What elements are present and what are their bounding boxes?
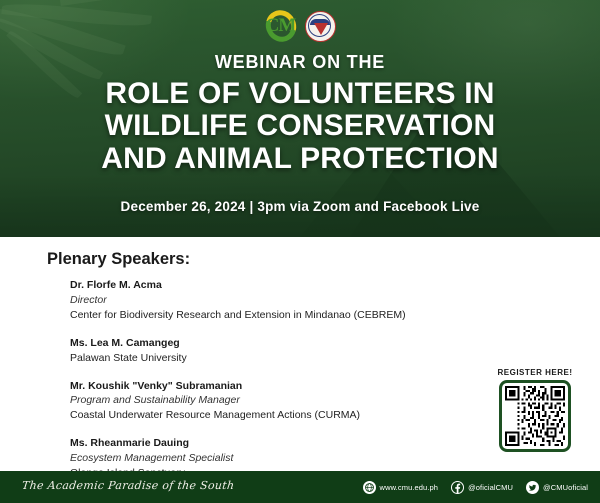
website-icon <box>363 481 376 494</box>
facebook-link[interactable]: @oficialCMU <box>451 481 513 494</box>
plenary-speakers-heading: Plenary Speakers: <box>47 250 190 269</box>
register-here-label: REGISTER HERE! <box>492 368 578 377</box>
speaker-item: Ms. Lea M. Camangeg Palawan State Univer… <box>70 336 470 366</box>
twitter-handle: @CMUoficial <box>543 483 588 492</box>
facebook-handle: @oficialCMU <box>468 483 513 492</box>
speaker-organization: Center for Biodiversity Research and Ext… <box>70 308 470 323</box>
logo-row: CM <box>0 9 600 43</box>
speaker-name: Dr. Florfe M. Acma <box>70 278 470 293</box>
speaker-role: Director <box>70 293 470 308</box>
speaker-list: Dr. Florfe M. Acma Director Center for B… <box>70 278 470 494</box>
monogram-letter: CM <box>265 9 297 43</box>
registration-qr-block[interactable]: REGISTER HERE! <box>492 368 578 452</box>
hero-banner: CM WEBINAR ON THE ROLE OF VOLUNTEERS IN … <box>0 0 600 237</box>
qr-code-icon[interactable] <box>499 380 571 452</box>
cmu-seal-logo <box>305 11 336 42</box>
institution-tagline: The Academic Paradise of the South <box>21 479 235 492</box>
speaker-name: Ms. Rheanmarie Dauing <box>70 436 470 451</box>
title-line-2: WILDLIFE CONSERVATION <box>0 110 600 142</box>
speaker-name: Mr. Koushik "Venky" Subramanian <box>70 379 470 394</box>
twitter-icon <box>526 481 539 494</box>
webinar-datetime: December 26, 2024 | 3pm via Zoom and Fac… <box>0 199 600 214</box>
webinar-eyebrow: WEBINAR ON THE <box>0 52 600 73</box>
cmu-monogram-logo: CM <box>265 9 297 43</box>
seal-v-mark <box>314 23 328 35</box>
speaker-role: Program and Sustainability Manager <box>70 393 470 408</box>
twitter-link[interactable]: @CMUoficial <box>526 481 588 494</box>
speaker-organization: Palawan State University <box>70 351 470 366</box>
main-content: Plenary Speakers: Dr. Florfe M. Acma Dir… <box>0 237 600 471</box>
social-links: www.cmu.edu.ph @oficialCMU <box>363 471 588 503</box>
title-line-3: AND ANIMAL PROTECTION <box>0 143 600 175</box>
website-link[interactable]: www.cmu.edu.ph <box>363 481 439 494</box>
footer-bar: The Academic Paradise of the South www.c… <box>0 471 600 503</box>
speaker-organization: Coastal Underwater Resource Management A… <box>70 408 470 423</box>
title-line-1: ROLE OF VOLUNTEERS IN <box>0 78 600 110</box>
speaker-item: Mr. Koushik "Venky" Subramanian Program … <box>70 379 470 424</box>
website-text: www.cmu.edu.ph <box>380 483 439 492</box>
webinar-title: ROLE OF VOLUNTEERS IN WILDLIFE CONSERVAT… <box>0 78 600 175</box>
speaker-name: Ms. Lea M. Camangeg <box>70 336 470 351</box>
facebook-icon <box>451 481 464 494</box>
webinar-poster: CM WEBINAR ON THE ROLE OF VOLUNTEERS IN … <box>0 0 600 503</box>
speaker-role: Ecosystem Management Specialist <box>70 451 470 466</box>
speaker-item: Dr. Florfe M. Acma Director Center for B… <box>70 278 470 323</box>
